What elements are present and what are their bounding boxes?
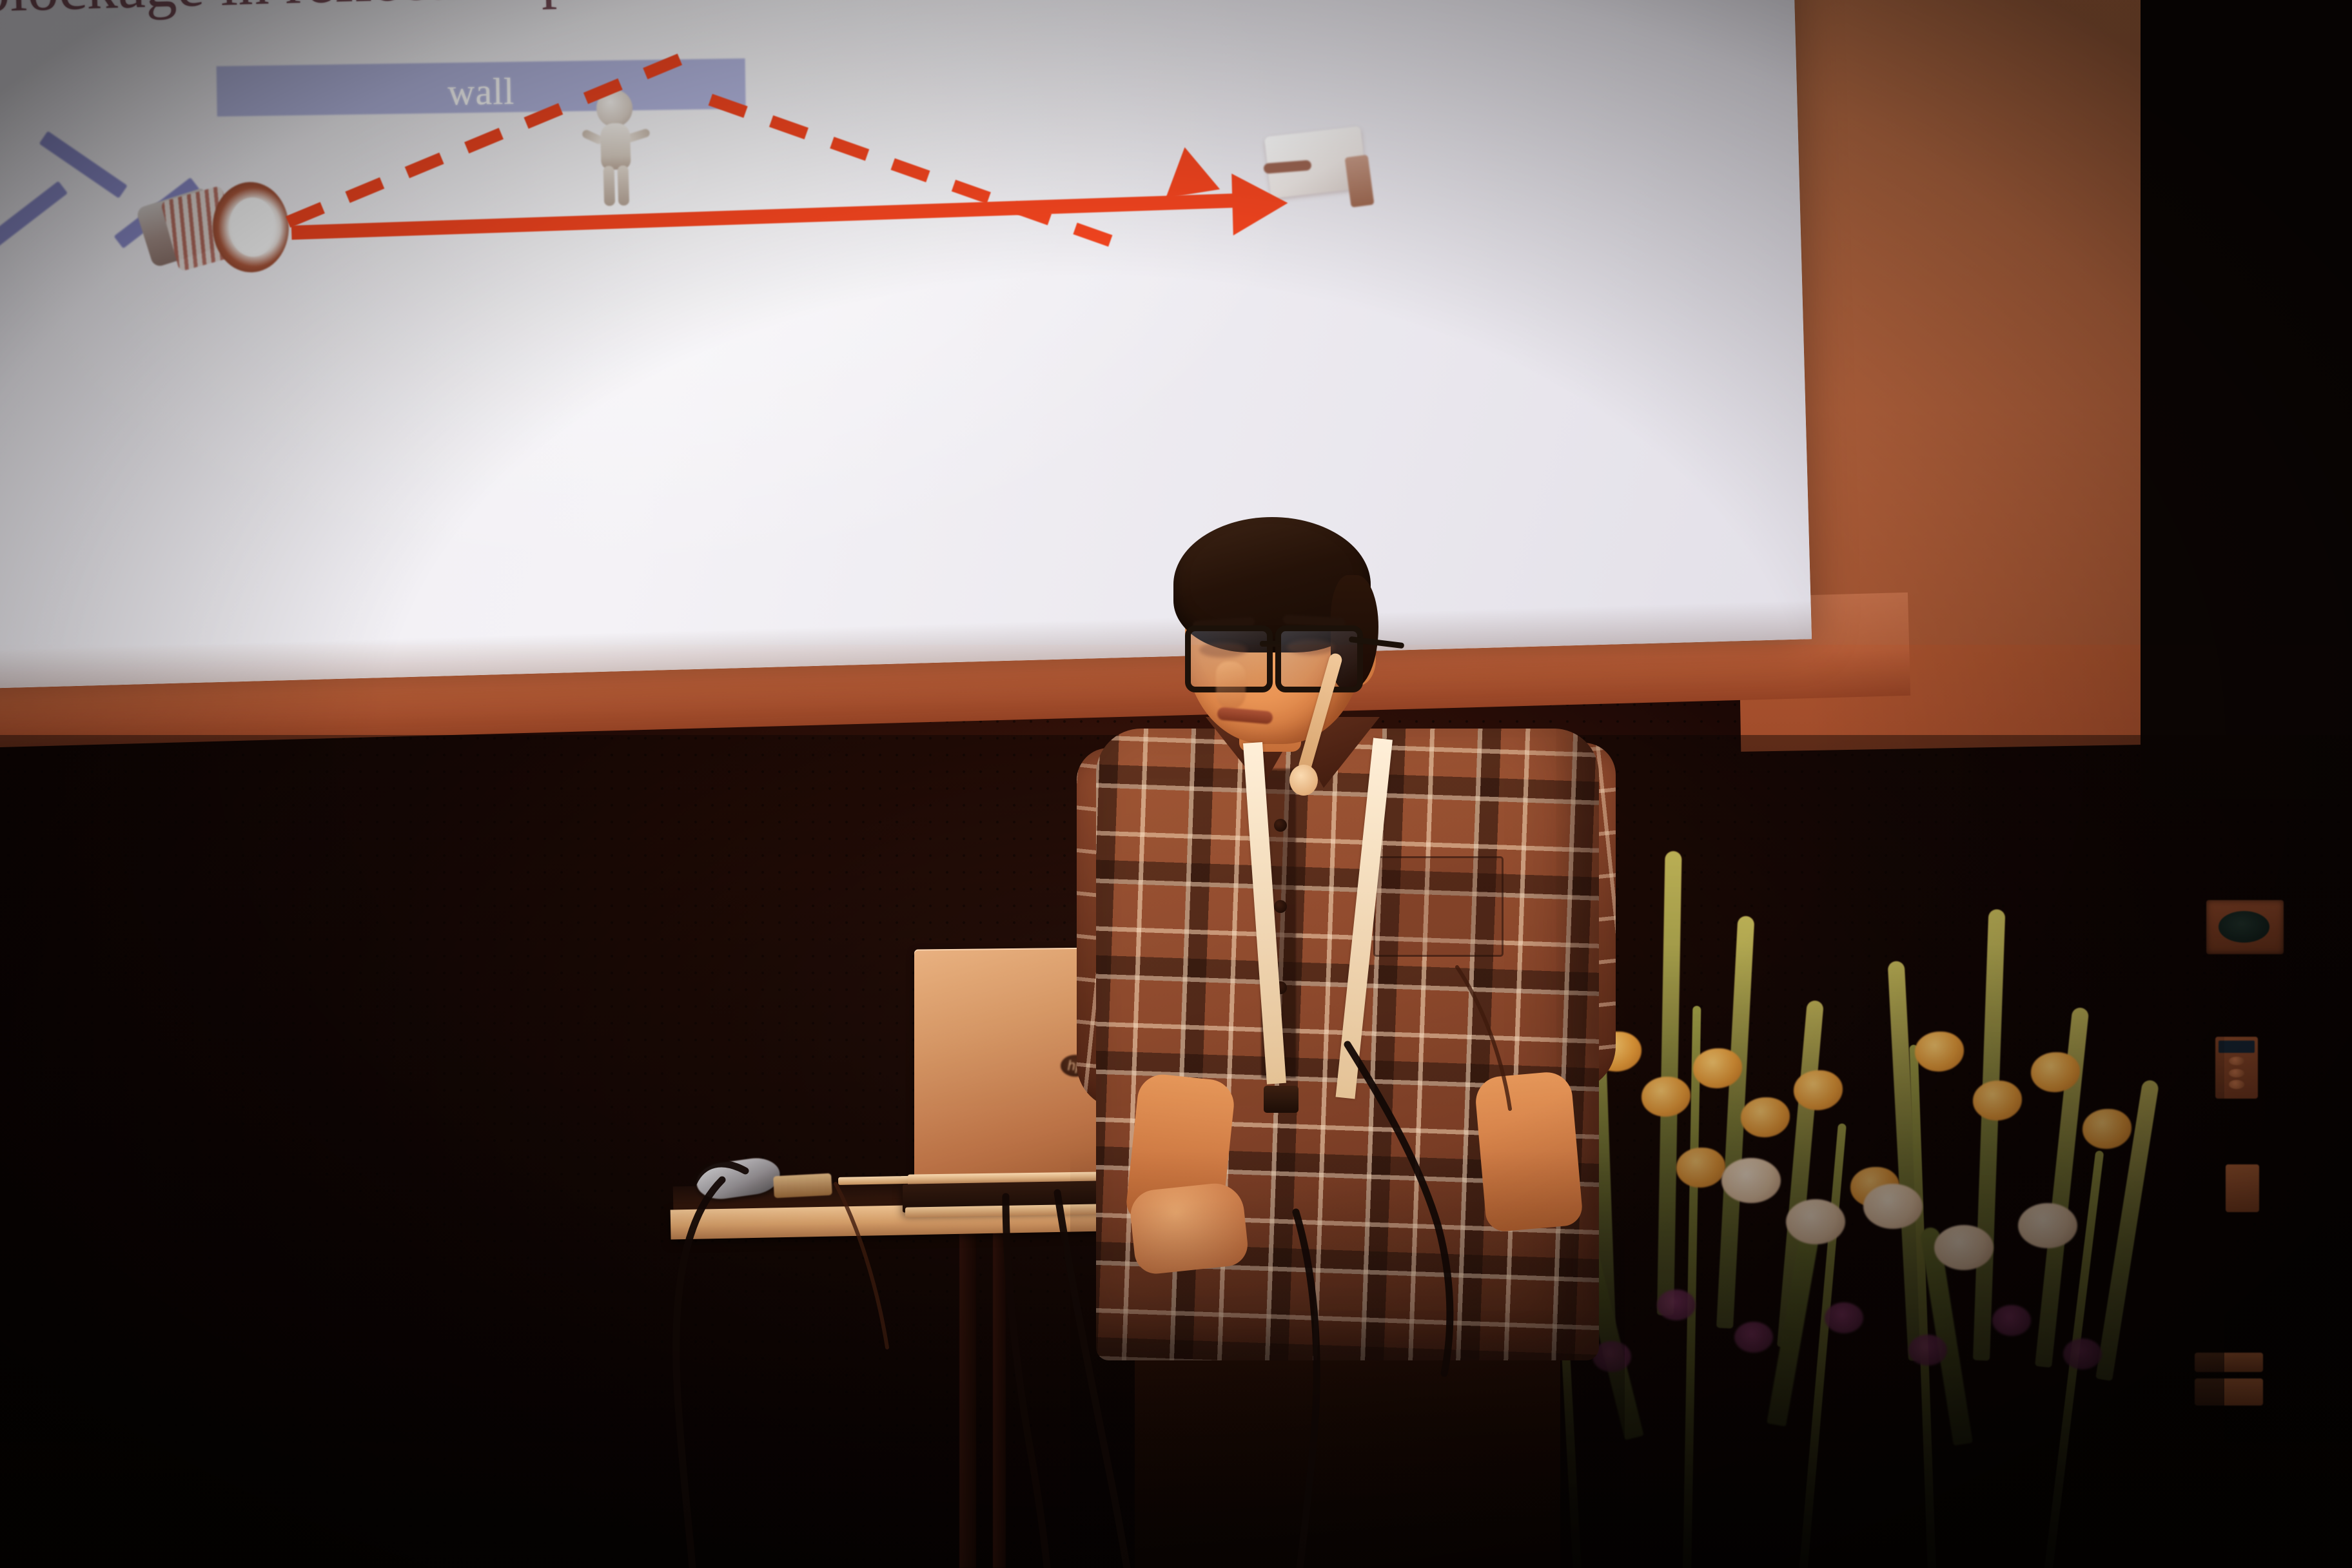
cable-bundle bbox=[0, 0, 2352, 1568]
presentation-photo: ely than blockage in reflection paths wa… bbox=[0, 0, 2352, 1568]
